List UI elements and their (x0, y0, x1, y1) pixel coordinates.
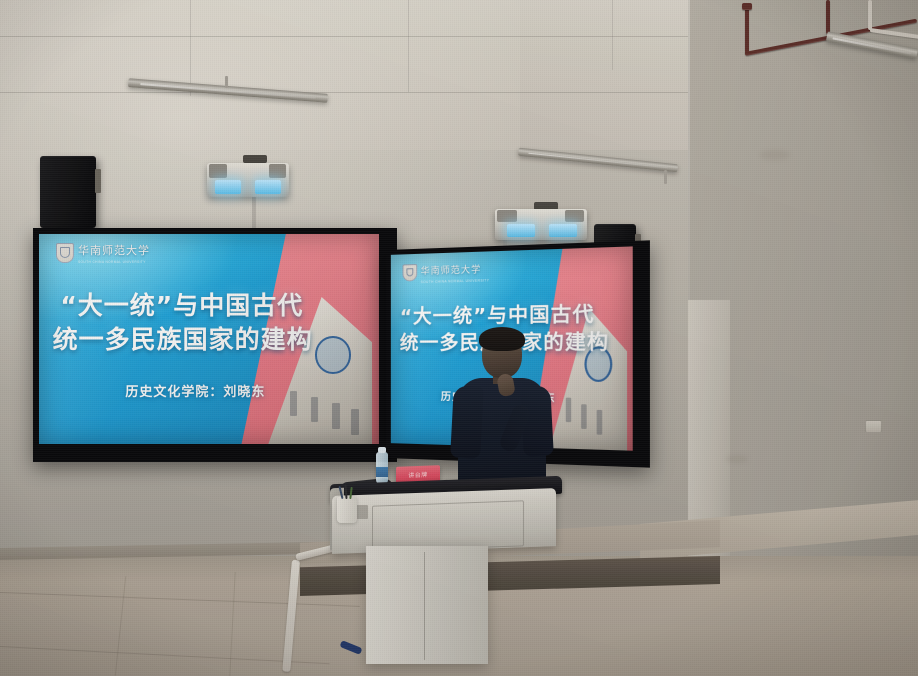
podium-base (366, 546, 488, 664)
slide-building-emblem (315, 336, 351, 373)
slide-building-window (597, 410, 603, 435)
ceiling-seam (0, 92, 760, 93)
projector-vent (269, 164, 286, 178)
wall-socket[interactable] (865, 420, 882, 433)
university-crest-icon (402, 264, 417, 282)
lecture-hall-photo: 华南师范大学 SOUTH CHINA NORMAL UNIVERSITY “大一… (0, 0, 918, 676)
slide-building-window (581, 404, 587, 429)
slide-subtitle: 历史文化学院：刘晓东 (73, 381, 318, 400)
ceiling-seam (612, 0, 613, 70)
sprinkler-pipe-riser (826, 0, 830, 34)
slide-building-window (351, 409, 358, 435)
projector-mount-left (243, 155, 267, 163)
presenter-hair (479, 327, 525, 351)
water-bottle[interactable] (376, 452, 388, 484)
speaker-bracket (95, 169, 101, 193)
screen-left-surface: 华南师范大学 SOUTH CHINA NORMAL UNIVERSITY “大一… (39, 234, 379, 444)
sprinkler-head (742, 3, 752, 10)
bottle-label (376, 467, 388, 477)
university-name: 华南师范大学 (421, 264, 482, 276)
podium-base-seam (424, 552, 425, 660)
bottle-cap (378, 447, 386, 453)
conduit-pipe-white (868, 0, 872, 30)
projector-vent (497, 210, 517, 222)
wall-scuff (726, 455, 748, 463)
light-bracket (664, 170, 667, 184)
university-crest-icon (56, 243, 74, 263)
slide-building-window (311, 397, 318, 423)
projector-lens-right (507, 224, 535, 237)
wall-scuff (760, 150, 790, 160)
projector-vent (565, 210, 584, 222)
ceiling-projector-left (207, 163, 289, 197)
projector-vent (209, 164, 227, 178)
projector-lens-left (215, 180, 241, 194)
university-name-english: SOUTH CHINA NORMAL UNIVERSITY (78, 260, 150, 264)
sprinkler-pipe-vertical (745, 6, 749, 54)
ceiling-projector-right (495, 209, 587, 240)
slide-title-line-1: “大一统”与中国古代 (53, 289, 311, 324)
wall-speaker-left (40, 156, 96, 228)
slide-university-logo: 华南师范大学 SOUTH CHINA NORMAL UNIVERSITY (56, 241, 150, 264)
pen-holder[interactable] (337, 497, 357, 523)
slide-title-line-1: “大一统”与中国古代 (400, 300, 581, 330)
slide-building-window (332, 403, 339, 429)
slide-title-block: “大一统”与中国古代 统一多民族国家的建构 (53, 289, 311, 358)
projector-lens-right-2 (549, 224, 577, 237)
slide-university-logo: 华南师范大学 SOUTH CHINA NORMAL UNIVERSITY (402, 258, 489, 284)
projection-screen-left[interactable]: 华南师范大学 SOUTH CHINA NORMAL UNIVERSITY “大一… (33, 228, 397, 462)
projector-lens-left-2 (255, 180, 281, 194)
ceiling-seam (408, 0, 409, 92)
presenter-arm-left (450, 385, 484, 458)
university-name: 华南师范大学 (78, 245, 150, 257)
podium-front-panel (372, 500, 524, 551)
slide-left: 华南师范大学 SOUTH CHINA NORMAL UNIVERSITY “大一… (39, 234, 379, 444)
light-bracket (225, 76, 228, 88)
ceiling-seam (190, 0, 191, 96)
slide-title-line-2: 统一多民族国家的建构 (53, 323, 311, 358)
nameplate-text: 讲台牌 (396, 469, 440, 480)
